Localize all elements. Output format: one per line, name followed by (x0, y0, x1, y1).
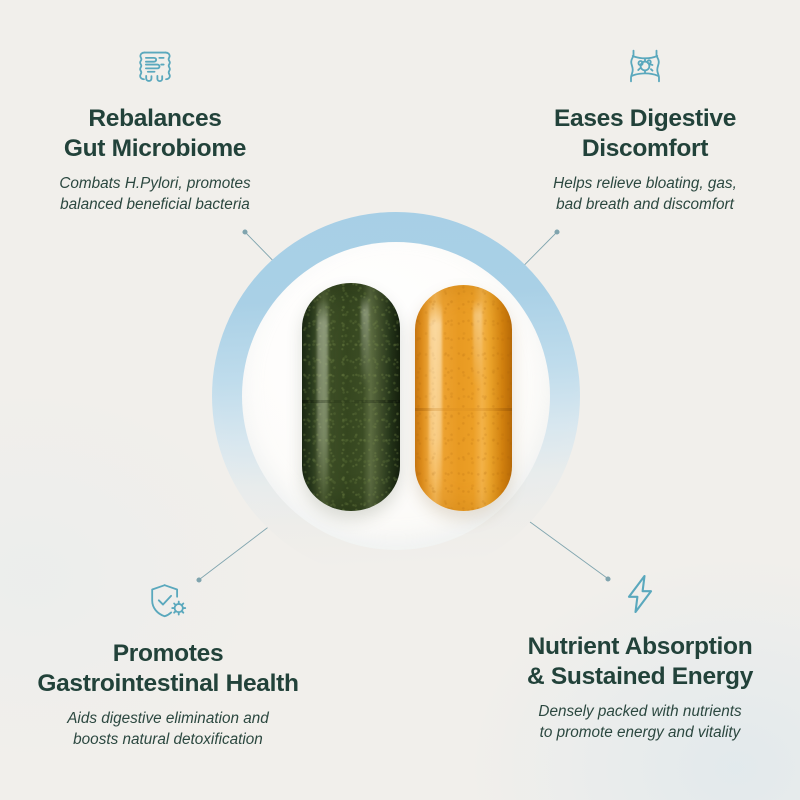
feature-description: Combats H.Pylori, promotes balanced bene… (5, 173, 305, 216)
green-capsule (302, 283, 400, 511)
feature-nutrient-absorption-sustained-energy: Nutrient Absorption & Sustained Energy D… (490, 568, 790, 744)
feature-title: Nutrient Absorption & Sustained Energy (490, 632, 790, 692)
green-capsule-texture (302, 283, 400, 511)
orange-capsule-texture (415, 285, 512, 511)
feature-eases-digestive-discomfort: Eases Digestive Discomfort Helps relieve… (495, 40, 795, 216)
feature-title: Rebalances Gut Microbiome (5, 104, 305, 164)
feature-promotes-gastrointestinal-health: Promotes Gastrointestinal Health Aids di… (18, 575, 318, 751)
infographic-canvas: Rebalances Gut Microbiome Combats H.Pylo… (0, 0, 800, 800)
feature-rebalances-gut-microbiome: Rebalances Gut Microbiome Combats H.Pylo… (5, 40, 305, 216)
lightning-bolt-icon (490, 568, 790, 620)
feature-description: Densely packed with nutrients to promote… (490, 701, 790, 744)
orange-capsule-joint (415, 408, 512, 411)
orange-capsule (415, 285, 512, 511)
feature-description: Helps relieve bloating, gas, bad breath … (495, 173, 795, 216)
shield-check-germ-icon (18, 575, 318, 627)
product-stage (212, 212, 580, 580)
feature-title: Promotes Gastrointestinal Health (18, 639, 318, 699)
intestine-icon (5, 40, 305, 92)
feature-description: Aids digestive elimination and boosts na… (18, 708, 318, 751)
stomach-bacteria-icon (495, 40, 795, 92)
feature-title: Eases Digestive Discomfort (495, 104, 795, 164)
green-capsule-joint (302, 400, 400, 403)
